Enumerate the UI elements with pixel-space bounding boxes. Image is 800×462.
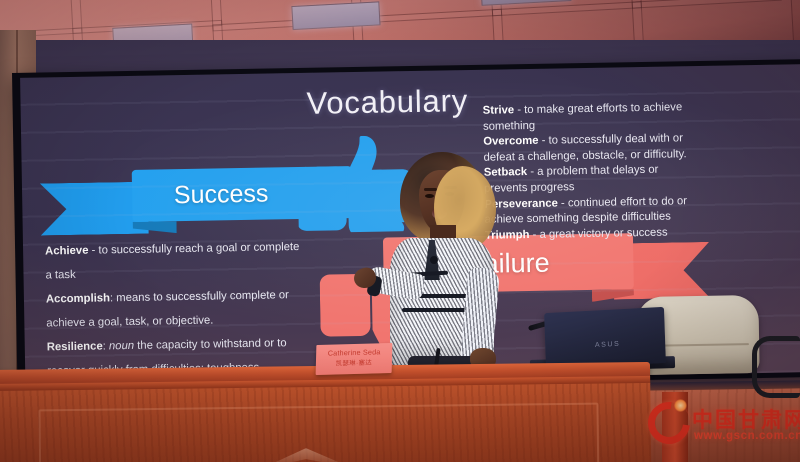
vocabulary-definition: to successfully reach a goal or complete — [98, 241, 299, 257]
slide-title: Vocabulary — [306, 83, 468, 122]
placard-name-cn: 凯瑟琳·塞达 — [316, 357, 392, 368]
vocabulary-definition: to make great efforts to achieve — [524, 101, 682, 116]
vocabulary-pos: noun — [109, 340, 134, 352]
vocabulary-right-column: Strive - to make great efforts to achiev… — [483, 98, 800, 244]
vocabulary-term: Resilience — [47, 340, 103, 353]
podium-desk — [0, 362, 651, 462]
vocabulary-definition: the capacity to withstand or to — [134, 337, 287, 352]
vocabulary-definition: means to successfully complete or — [116, 289, 289, 304]
presenter — [372, 152, 522, 387]
photo-scene: Vocabulary Success Failure — [0, 0, 800, 462]
name-placard: Catherine Seda 凯瑟琳·塞达 — [316, 343, 393, 375]
vocabulary-definition: a problem that delays or — [537, 164, 658, 178]
vocabulary-definition: achieve a goal, task, or objective. — [46, 315, 213, 330]
vocabulary-term: Achieve — [45, 245, 89, 258]
vocabulary-definition: to successfully deal with or — [548, 132, 683, 146]
laptop: ASUS — [544, 307, 666, 369]
chair-armrest — [752, 336, 800, 398]
vocabulary-definition: a great victory or success — [539, 226, 667, 240]
vocabulary-term: Strive — [483, 104, 515, 117]
vocabulary-term: Overcome — [483, 135, 538, 148]
vocabulary-definition: continued effort to do or — [568, 195, 687, 209]
vocabulary-definition: a task — [45, 269, 75, 282]
stage-post — [662, 392, 688, 462]
vocabulary-term: Accomplish — [46, 292, 110, 305]
success-banner-label: Success — [132, 167, 311, 222]
laptop-brand-logo: ASUS — [595, 340, 621, 348]
vocabulary-definition: something — [483, 119, 535, 132]
